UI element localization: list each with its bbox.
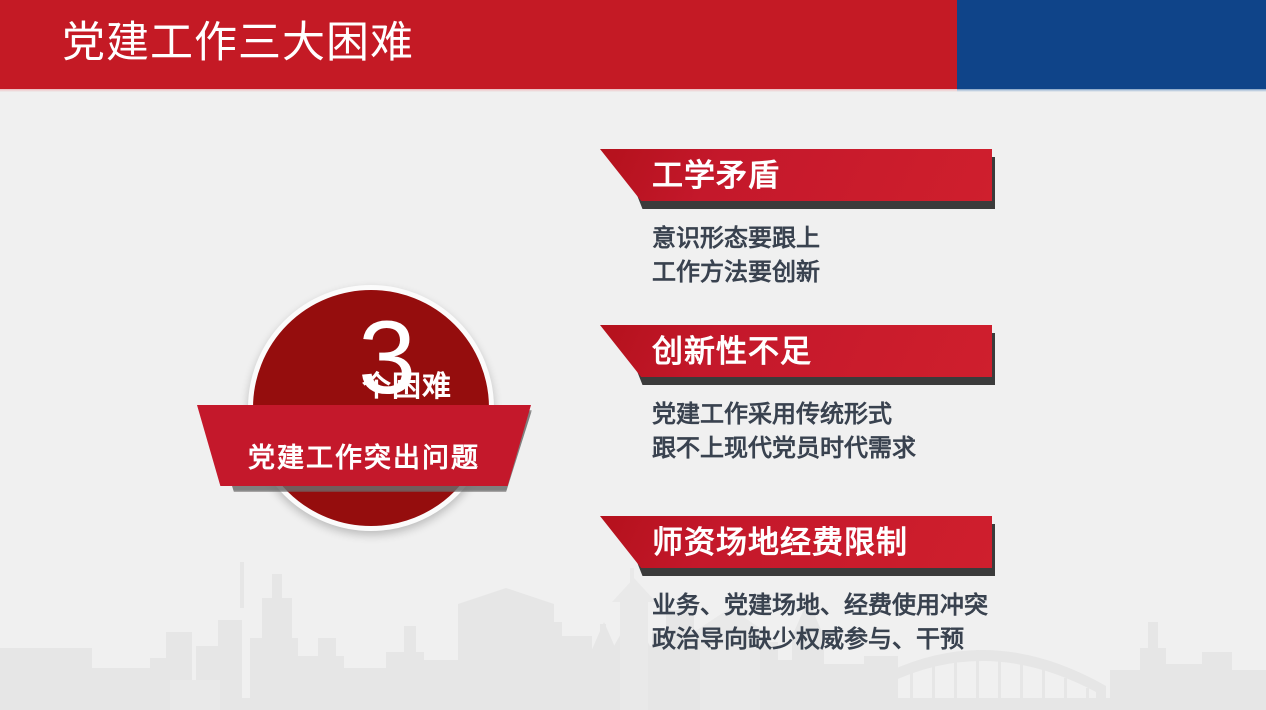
point-banner-3: 师资场地经费限制 (600, 516, 995, 576)
point-line: 跟不上现代党员时代需求 (652, 432, 1020, 466)
point-title-3: 师资场地经费限制 (652, 524, 908, 562)
slide-canvas: 党建工作三大困难 3 个困难 党建工作突出问题 工学矛盾 意识形态要跟上 工作方… (0, 0, 1266, 710)
point-title-1: 工学矛盾 (652, 157, 780, 195)
point-banner-2: 创新性不足 (600, 325, 995, 385)
page-title: 党建工作三大困难 (62, 16, 414, 72)
point-item-1: 工学矛盾 意识形态要跟上 工作方法要创新 (600, 149, 1020, 290)
point-item-2: 创新性不足 党建工作采用传统形式 跟不上现代党员时代需求 (600, 325, 1020, 466)
point-banner-1: 工学矛盾 (600, 149, 995, 209)
point-item-3: 师资场地经费限制 业务、党建场地、经费使用冲突 政治导向缺少权威参与、干预 (600, 516, 1020, 657)
summary-badge: 3 个困难 党建工作突出问题 (190, 278, 540, 528)
header-blue-underline (957, 89, 1266, 92)
ribbon-label: 党建工作突出问题 (197, 443, 531, 473)
point-body-3: 业务、党建场地、经费使用冲突 政治导向缺少权威参与、干预 (652, 589, 1020, 657)
point-line: 业务、党建场地、经费使用冲突 (652, 589, 1020, 623)
point-body-2: 党建工作采用传统形式 跟不上现代党员时代需求 (652, 398, 1020, 466)
badge-unit-label: 个困难 (362, 371, 452, 403)
header-blue-band (957, 0, 1266, 89)
point-line: 政治导向缺少权威参与、干预 (652, 623, 1020, 657)
badge-ribbon: 党建工作突出问题 (197, 405, 531, 486)
point-line: 工作方法要创新 (652, 256, 1020, 290)
point-line: 党建工作采用传统形式 (652, 398, 1020, 432)
point-line: 意识形态要跟上 (652, 222, 1020, 256)
point-body-1: 意识形态要跟上 工作方法要创新 (652, 222, 1020, 290)
point-title-2: 创新性不足 (652, 333, 812, 371)
